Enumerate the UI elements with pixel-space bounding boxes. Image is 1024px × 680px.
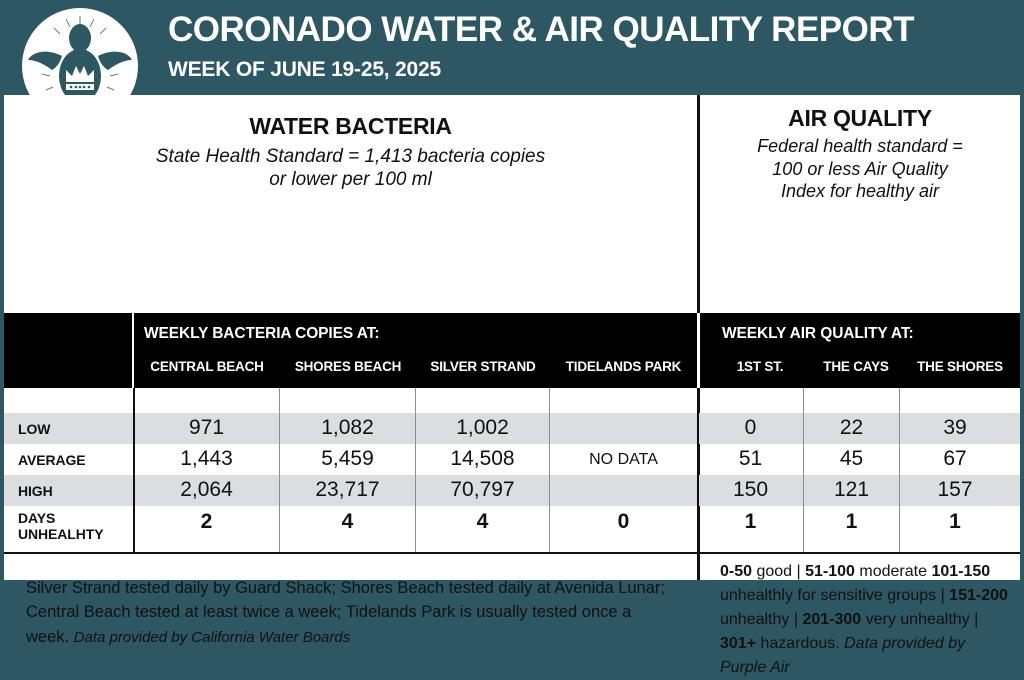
cell-low-central-beach: 971 <box>134 416 279 440</box>
cell-average-shores-beach: 5,459 <box>280 447 415 471</box>
aqi-range-201-300: 201-300 <box>802 611 861 628</box>
page-subtitle: WEEK OF JUNE 19-25, 2025 <box>168 58 914 82</box>
air-standard-note: Federal health standard = 100 or less Ai… <box>700 135 1020 203</box>
cell-low-the-cays: 22 <box>804 416 899 440</box>
water-standard-note: State Health Standard = 1,413 bacteria c… <box>4 145 697 191</box>
cell-average-the-shores: 67 <box>900 447 1010 471</box>
row-label-days-line1: DAYS <box>18 510 103 526</box>
air-section-header: AIR QUALITY Federal health standard = 10… <box>700 95 1020 213</box>
aqi-label-sensitive: unhealthly for sensitive groups | <box>720 587 949 604</box>
row-label-high: HIGH <box>18 483 53 499</box>
water-col-silver-strand: SILVER STRAND <box>416 359 550 374</box>
aqi-range-301-plus: 301+ <box>720 635 756 652</box>
report-page: CORONADO WATER & AIR QUALITY REPORT WEEK… <box>0 0 1024 580</box>
cell-days-silver-strand: 4 <box>416 510 549 534</box>
aqi-label-very-unhealthy: very unhealthy | <box>861 611 978 628</box>
cell-high-the-cays: 121 <box>804 478 899 502</box>
air-table-header-band: WEEKLY AIR QUALITY AT: 1ST ST. THE CAYS … <box>700 313 1020 388</box>
aqi-range-51-100: 51-100 <box>805 563 855 580</box>
cell-low-silver-strand: 1,002 <box>416 416 549 440</box>
air-standard-line3: Index for healthy air <box>700 180 1020 203</box>
report-header: CORONADO WATER & AIR QUALITY REPORT WEEK… <box>0 0 1024 95</box>
aqi-label-hazardous: hazardous. <box>756 635 844 652</box>
cell-high-shores-beach: 23,717 <box>280 478 415 502</box>
cell-average-silver-strand: 14,508 <box>416 447 549 471</box>
water-band-label: WEEKLY BACTERIA COPIES AT: <box>144 325 379 343</box>
aqi-range-101-150: 101-150 <box>931 563 990 580</box>
cell-days-the-cays: 1 <box>804 510 899 534</box>
cell-high-the-shores: 157 <box>900 478 1010 502</box>
cell-average-central-beach: 1,443 <box>134 447 279 471</box>
air-band-label: WEEKLY AIR QUALITY AT: <box>722 325 914 343</box>
cell-high-1st-st: 150 <box>698 478 803 502</box>
aqi-label-good: good | <box>752 563 805 580</box>
cell-average-the-cays: 45 <box>804 447 899 471</box>
water-table-header-band: WEEKLY BACTERIA COPIES AT: CENTRAL BEACH… <box>4 313 697 388</box>
data-table: LOW AVERAGE HIGH DAYS UNHEALHTY 971 1,08… <box>4 388 1020 552</box>
water-standard-line1: State Health Standard = 1,413 bacteria c… <box>4 145 697 168</box>
air-section-title: AIR QUALITY <box>700 105 1020 132</box>
air-legend: 0-50 good | 51-100 moderate 101-150 unhe… <box>720 560 1012 680</box>
water-col-central-beach: CENTRAL BEACH <box>134 359 280 374</box>
cell-low-shores-beach: 1,082 <box>280 416 415 440</box>
water-standard-line2: or lower per 100 ml <box>4 168 697 191</box>
air-standard-line1: Federal health standard = <box>700 135 1020 158</box>
cell-days-1st-st: 1 <box>698 510 803 534</box>
page-title: CORONADO WATER & AIR QUALITY REPORT <box>168 12 914 47</box>
water-col-shores-beach: SHORES BEACH <box>280 359 416 374</box>
row-label-days-unhealthy: DAYS UNHEALHTY <box>18 510 103 542</box>
row-label-days-line2: UNHEALHTY <box>18 526 103 542</box>
aqi-label-unhealthy: unhealthy | <box>720 611 802 628</box>
cell-days-the-shores: 1 <box>900 510 1010 534</box>
footer-divider <box>4 552 1020 554</box>
cell-average-1st-st: 51 <box>698 447 803 471</box>
water-section-title: WATER BACTERIA <box>4 113 697 140</box>
water-col-tidelands-park: TIDELANDS PARK <box>550 359 697 374</box>
cell-days-tidelands-park: 0 <box>550 510 697 534</box>
air-col-1st-st: 1ST ST. <box>712 359 808 374</box>
water-section-header: WATER BACTERIA State Health Standard = 1… <box>4 95 697 213</box>
water-footnote: Silver Strand tested daily by Guard Shac… <box>26 576 676 649</box>
band-inner-rule <box>132 313 134 388</box>
aqi-label-moderate: moderate <box>855 563 927 580</box>
cell-average-tidelands-park: NO DATA <box>550 451 697 469</box>
right-edge <box>1020 95 1024 580</box>
cell-high-silver-strand: 70,797 <box>416 478 549 502</box>
cell-low-1st-st: 0 <box>698 416 803 440</box>
aqi-range-0-50: 0-50 <box>720 563 752 580</box>
cell-high-central-beach: 2,064 <box>134 478 279 502</box>
air-col-the-cays: THE CAYS <box>808 359 904 374</box>
row-label-low: LOW <box>18 421 50 437</box>
cell-days-central-beach: 2 <box>134 510 279 534</box>
air-col-the-shores: THE SHORES <box>904 359 1016 374</box>
cell-low-the-shores: 39 <box>900 416 1010 440</box>
aqi-range-151-200: 151-200 <box>949 587 1008 604</box>
title-block: CORONADO WATER & AIR QUALITY REPORT WEEK… <box>168 12 914 82</box>
air-standard-line2: 100 or less Air Quality <box>700 158 1020 181</box>
cell-days-shores-beach: 4 <box>280 510 415 534</box>
report-body: WATER BACTERIA State Health Standard = 1… <box>4 95 1020 580</box>
water-footnote-source: Data provided by California Water Boards <box>74 629 351 646</box>
row-label-average: AVERAGE <box>18 452 86 468</box>
